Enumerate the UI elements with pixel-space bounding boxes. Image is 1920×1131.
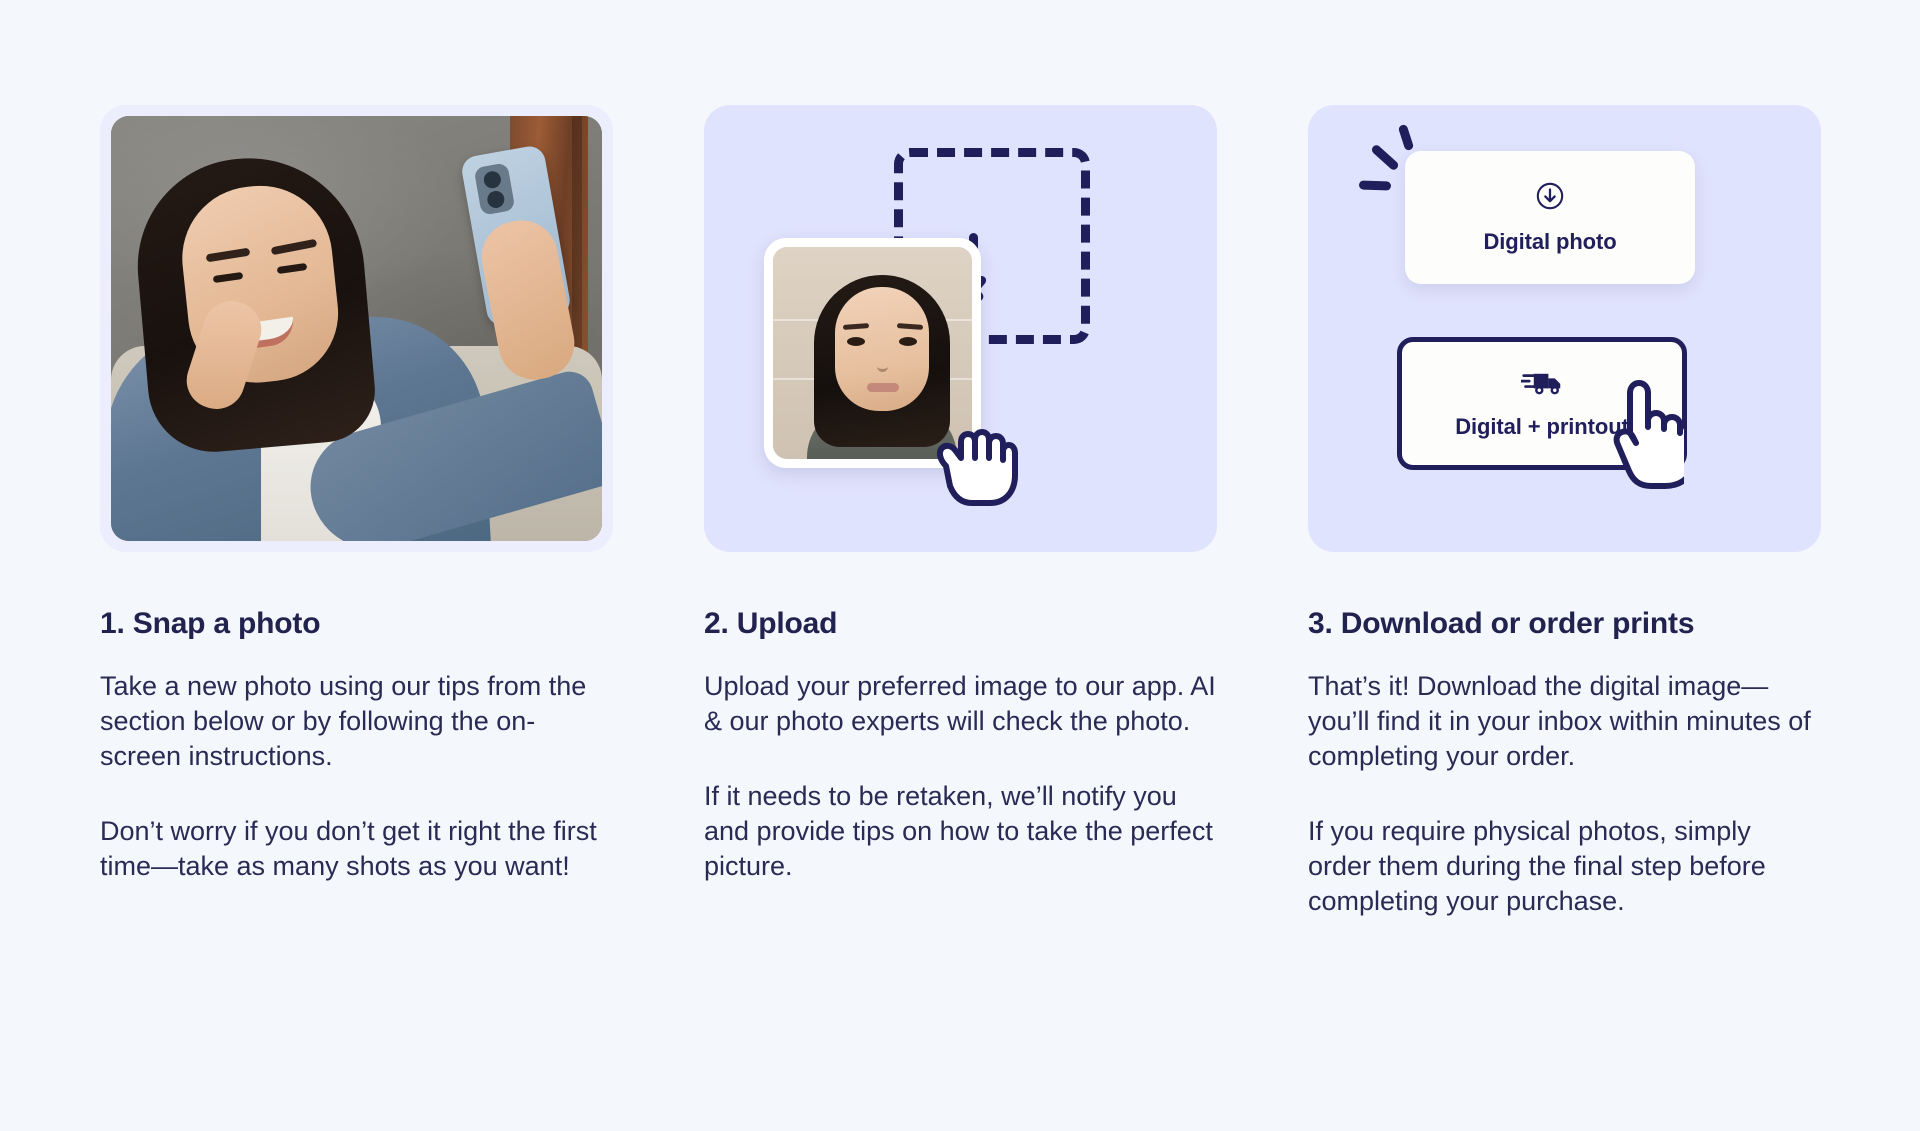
step-2-illustration [704, 105, 1217, 552]
step-1-title: 1. Snap a photo [100, 607, 613, 641]
smartphone-camera-icon [474, 162, 516, 215]
pointing-hand-cursor-icon [1610, 377, 1684, 489]
step-2-title: 2. Upload [704, 607, 1217, 641]
steps-row: 1. Snap a photo Take a new photo using o… [100, 105, 1820, 919]
grabbing-hand-cursor-icon [930, 420, 1018, 510]
step-3-paragraph-1: That’s it! Download the digital image—yo… [1308, 669, 1821, 774]
download-circle-icon [1535, 181, 1565, 216]
thumbnail-face [835, 287, 929, 411]
step-3-illustration: Digital photo [1308, 105, 1821, 552]
step-2: 2. Upload Upload your preferred image to… [704, 105, 1217, 919]
option-digital-photo[interactable]: Digital photo [1405, 151, 1695, 284]
step-1-paragraph-1: Take a new photo using our tips from the… [100, 669, 613, 774]
option-digital-plus-printout-label: Digital + printout [1455, 414, 1629, 440]
thumbnail-mouth [867, 383, 899, 392]
step-1: 1. Snap a photo Take a new photo using o… [100, 105, 613, 919]
selfie-photo [111, 116, 602, 541]
step-2-paragraph-1: Upload your preferred image to our app. … [704, 669, 1217, 739]
thumbnail-eye-right [899, 337, 917, 346]
how-it-works-section: 1. Snap a photo Take a new photo using o… [0, 0, 1920, 1131]
thumbnail-nose [877, 359, 888, 372]
thumbnail-eye-left [847, 337, 865, 346]
step-3-title: 3. Download or order prints [1308, 607, 1821, 641]
selfie-photo-frame [100, 105, 613, 552]
step-1-paragraph-2: Don’t worry if you don’t get it right th… [100, 814, 613, 884]
delivery-truck-icon [1521, 368, 1563, 401]
step-3-paragraph-2: If you require physical photos, simply o… [1308, 814, 1821, 919]
step-1-illustration [100, 105, 613, 552]
step-2-paragraph-2: If it needs to be retaken, we’ll notify … [704, 779, 1217, 884]
option-digital-photo-label: Digital photo [1483, 229, 1616, 255]
step-3: Digital photo [1308, 105, 1821, 919]
